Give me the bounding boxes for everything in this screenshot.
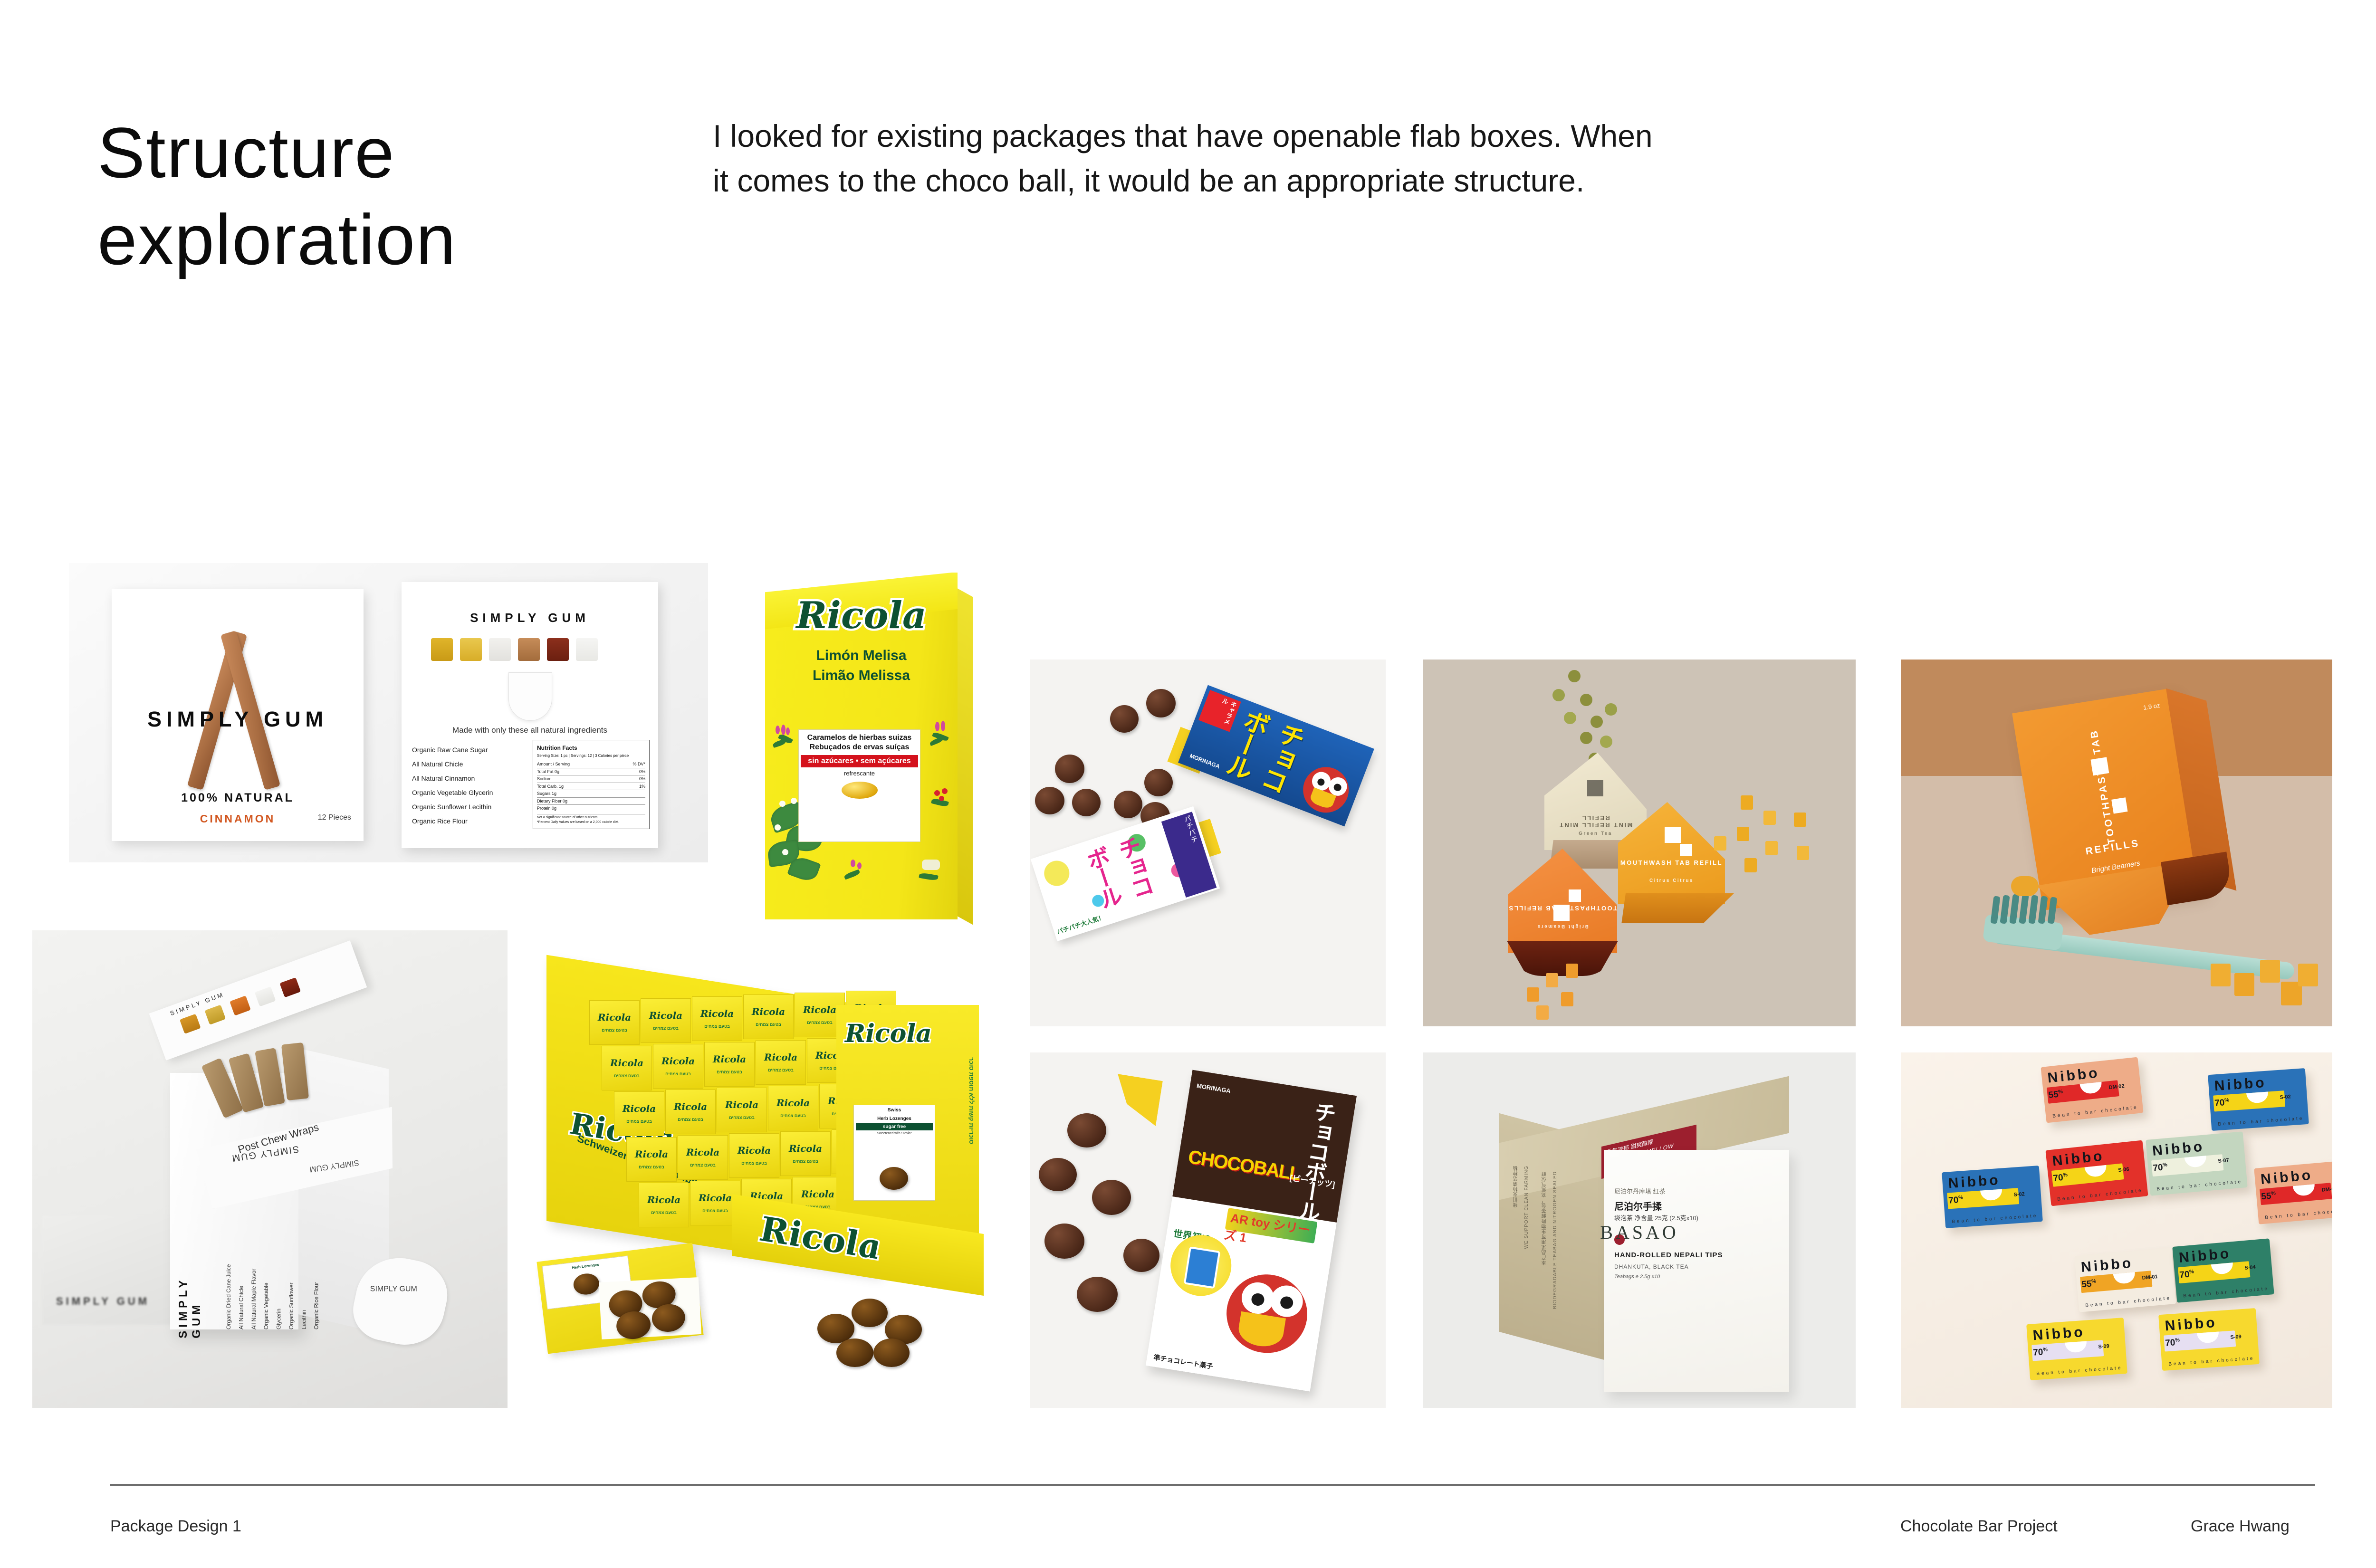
label-stevia: Sweetened with Stevia* (854, 1132, 935, 1135)
nibbo-bar: Nibbo55%DM-02Bean to bar chocolate (2254, 1160, 2332, 1224)
hebrew-side-text: סוכריות קשות ללא תוספת סוכר (968, 1057, 975, 1144)
nibbo-tagline: Bean to bar chocolate (2052, 1105, 2138, 1119)
ricola-logo-small: Ricola (614, 1103, 664, 1114)
nibbo-cacao-pct: 55% (2081, 1278, 2097, 1290)
nibbo-sku: S-02 (2280, 1094, 2291, 1100)
ricola-logo: Ricola (765, 594, 958, 637)
pack-vertical-wordmark: SIMPLY GUM (177, 1277, 203, 1339)
nutrition-row: Total Fat 0g0% (537, 768, 645, 775)
lid-swatch-4 (255, 986, 276, 1006)
nutrition-row: Dietary Fiber 0g (537, 797, 645, 805)
label-sugar-free: sugar free (856, 1123, 933, 1130)
footer-divider (110, 1484, 2315, 1486)
intro-line1: I looked for existing packages that have… (713, 114, 1796, 159)
ricola-logo-small: Ricola (744, 1006, 793, 1017)
choco-ball (1144, 769, 1173, 796)
label-swiss: Swiss (854, 1105, 935, 1114)
en-net-weight: Teabags e 2.5g x10 (1614, 1274, 1660, 1280)
pack-ingredient-list: Organic Dried Cane JuiceAll Natural Chic… (222, 1263, 323, 1329)
ricola-pack: Ricolaבטעם צמחים (589, 1000, 640, 1045)
nibbo-tagline: Bean to bar chocolate (2156, 1179, 2243, 1192)
intro-paragraph: I looked for existing packages that have… (713, 114, 1796, 203)
nibbo-tagline: Bean to bar chocolate (2183, 1286, 2270, 1299)
wrapper-text: SIMPLY GUM (309, 1157, 360, 1174)
photo-ricola-display-case: Ricola Schweizer Kräuterbonbons Ricolaבט… (532, 948, 1000, 1376)
nibbo-sku: S-06 (2118, 1166, 2129, 1173)
nutrition-rows: Total Fat 0g0%Sodium0%Total Carb. 1g1% S… (537, 768, 645, 812)
side-text-cn-1: 我们支持清洁种植 (1513, 1166, 1520, 1207)
ricola-pack: Ricolaבטעם צמחים (614, 1091, 664, 1136)
nibbo-bar: Nibbo70%S-06Bean to bar chocolate (2045, 1140, 2148, 1206)
nf-header-left: Amount / Serving (537, 761, 570, 768)
ricola-logo-small: Ricola (627, 1148, 676, 1160)
nibbo-sku: S-09 (2098, 1343, 2109, 1350)
ingredient-item: Organic Dried Cane Juice (222, 1263, 235, 1329)
herb-illustration (841, 858, 869, 885)
nibbo-brand: Nibbo (2165, 1315, 2218, 1335)
wedge-label-mint: MINT REFILL MINT REFILL (1544, 814, 1647, 829)
openable-flap-tab (508, 672, 552, 721)
hebrew-flavor: בטעם צמחים (717, 1115, 766, 1120)
ricola-pack: Ricolaבטעם צמחים (729, 1133, 779, 1178)
herb-illustration (917, 858, 945, 885)
hebrew-flavor: בטעם צמחים (729, 1161, 779, 1166)
nf-header-right: % DV* (632, 761, 645, 768)
hebrew-flavor: בטעם צמחים (653, 1071, 703, 1076)
en-subtitle: DHANKUTA, BLACK TEA (1614, 1263, 1689, 1270)
ricola-logo-small: Ricola (756, 1052, 805, 1063)
ingredient-item: All Natural Cinnamon (412, 771, 493, 785)
nutrition-title: Nutrition Facts (537, 745, 577, 751)
nibbo-brand: Nibbo (2214, 1075, 2267, 1095)
made-with-caption: Made with only these all natural ingredi… (402, 726, 658, 735)
ricola-pack: Ricolaבטעם צמחים (626, 1137, 677, 1182)
hebrew-flavor: בטעם צמחים (602, 1073, 651, 1078)
ricola-logo-small: Ricola (692, 1008, 742, 1019)
ricola-logo-small: Ricola (641, 1010, 690, 1021)
ricola-pack: Ricolaבטעם צמחים (665, 1090, 716, 1134)
ingredient-item: All Natural Chicle (412, 757, 493, 771)
morinaga-logo: MORINAGA (1189, 752, 1221, 770)
herb-illustration (770, 725, 797, 752)
ingredient-item: Organic Sunflower Lecithin (412, 800, 493, 814)
hebrew-flavor: בטעם צמחים (705, 1070, 754, 1074)
nibbo-brand: Nibbo (1948, 1172, 2001, 1192)
choco-ball (1055, 755, 1084, 783)
sugar-free-badge: sin azúcares • sem açúcares (801, 755, 918, 767)
swatch-cinnamon (518, 638, 540, 661)
en-title: HAND-ROLLED NEPALI TIPS (1614, 1251, 1723, 1259)
ricola-pack: Ricolaבטעם צמחים (780, 1131, 831, 1176)
ricola-flavor-pt: Limão Melissa (765, 668, 958, 684)
ricola-pack: Ricolaבטעם צמחים (639, 1183, 689, 1227)
nibbo-sku: S-04 (2244, 1264, 2256, 1271)
simply-gum-back-pack: SIMPLY GUM Made with only these all natu… (402, 582, 658, 848)
side-text-cn-2: 本产品采用可生物降解茶包，充氮气保鲜 (1541, 1171, 1548, 1265)
hebrew-flavor: בטעם צמחים (692, 1024, 742, 1029)
ricola-logo-small: Ricola (768, 1097, 818, 1109)
hebrew-flavor: בטעם צמחים (678, 1163, 728, 1167)
footer-right: Grace Hwang (2191, 1517, 2290, 1536)
swatch-glycerin (489, 638, 511, 661)
ricola-pack: Ricolaבטעם צמחים (602, 1046, 652, 1090)
background-wordmark: SIMPLY GUM (56, 1295, 150, 1308)
photo-bite-refill-wedges: MINT REFILL MINT REFILL Green Tea MOUTHW… (1423, 660, 1856, 1026)
wedge-mouthwash-depth (1609, 893, 1734, 923)
ingredient-item: Organic Rice Flour (412, 814, 493, 828)
ricola-logo-small: Ricola (639, 1194, 689, 1205)
ricola-logo-small: Ricola (781, 1143, 830, 1154)
ricola-product-label: Swiss Herb Lozenges sugar free Sweetened… (853, 1105, 935, 1201)
toothpaste-tab-refill-box: TOOTHPASTE TAB REFILLS Bright Beamers 1.… (2012, 689, 2198, 910)
ricola-info-panel: Caramelos de hierbas suizas Rebuçados de… (798, 729, 920, 842)
hebrew-flavor: בטעם צמחים (666, 1117, 715, 1122)
ricola-logo-small: Ricola (590, 1012, 639, 1023)
ricola-logo-front: Ricola (845, 1019, 932, 1048)
label-lozenges-small: Herb Lozenges (543, 1256, 628, 1273)
nibbo-bar: Nibbo70%S-09Bean to bar chocolate (2026, 1318, 2127, 1380)
ingredient-item: All Natural Maple Flavor (248, 1263, 260, 1329)
nibbo-bar: Nibbo55%DM-02Bean to bar chocolate (2041, 1057, 2143, 1123)
nf-footnote-2: *Percent Daily Values are based on a 2,0… (537, 820, 645, 825)
cn-title: 尼泊尔手揉 (1614, 1199, 1662, 1213)
ricola-pack: Ricolaבטעם צמחים (641, 998, 691, 1043)
hebrew-flavor: בטעם צמחים (781, 1159, 830, 1164)
nibbo-bar: Nibbo70%S-07Bean to bar chocolate (2146, 1131, 2248, 1195)
nibbo-brand: Nibbo (2032, 1324, 2086, 1344)
nibbo-sku: S-02 (2013, 1191, 2025, 1198)
herb-illustration (928, 721, 955, 748)
ricola-pack: Ricolaבטעם צמחים (704, 1042, 755, 1087)
open-flap-yellow (1111, 1074, 1163, 1126)
nutrition-row: Total Carb. 1g1% (537, 783, 645, 790)
ingredient-item: Organic Raw Cane Sugar (412, 743, 493, 757)
hebrew-flavor: בטעם צמחים (639, 1210, 689, 1215)
nibbo-cacao-pct: 55% (2261, 1190, 2277, 1202)
hebrew-flavor: בטעם צמחים (627, 1165, 676, 1169)
nutrition-row: Protein 0g (537, 804, 645, 812)
nibbo-cacao-pct: 70% (2165, 1337, 2180, 1348)
hebrew-flavor: בטעם צמחים (744, 1022, 793, 1027)
nibbo-bar: Nibbo55%DM-01Bean to bar chocolate (2074, 1248, 2176, 1312)
chocoball-blue-box: キャラメル チョコボール MORINAGA (1178, 685, 1374, 827)
piece-count: 12 Pieces (318, 813, 351, 822)
nutrition-facts-panel: Nutrition Facts Serving Size: 1 pc | Ser… (533, 740, 650, 829)
ricola-pack: Ricolaבטעם צמחים (743, 994, 794, 1039)
nibbo-cacao-pct: 70% (2153, 1162, 2168, 1174)
footer-center: Chocolate Bar Project (1900, 1517, 2058, 1536)
nibbo-cacao-pct: 70% (2214, 1097, 2230, 1109)
chocoball-white-box: チョコボール パチパチ パチパチ大人気！ (1031, 806, 1220, 941)
lid-swatch-1 (180, 1014, 201, 1034)
nibbo-sku: DM-01 (2142, 1274, 2158, 1281)
swatch-sugar (431, 638, 453, 661)
ricola-pack: Ricolaבטעם צמחים (678, 1135, 728, 1180)
hebrew-flavor: בטעם צמחים (590, 1028, 639, 1033)
lozenge-illustration (842, 782, 878, 799)
photo-basao-tea-box: 香气浓郁 甜爽醇厚 SWEET AND MELLOW 我们支持清洁种植 WE S… (1423, 1052, 1856, 1408)
nf-footnote-1: Not a significant source of other nutrie… (537, 814, 645, 821)
simply-gum-wordmark-back: SIMPLY GUM (402, 611, 658, 625)
footer-left: Package Design 1 (110, 1517, 241, 1536)
wedge-label-mouthwash: MOUTHWASH TAB REFILL (1618, 859, 1725, 866)
photo-ricola-single-box: Ricola Limón Melisa Limão Melissa (751, 573, 988, 943)
intro-line2: it comes to the choco ball, it would be … (713, 159, 1796, 203)
herb-illustration (928, 787, 955, 815)
ingredient-item: Organic Sunflower Lecithin (285, 1263, 310, 1329)
net-weight: 1.9 oz (2143, 702, 2160, 711)
swatch-rice-flour (576, 638, 598, 661)
photo-simply-gum-open-box: SIMPLY GUM SIMPLY GUM Organic Dried Cane… (32, 930, 508, 1408)
nibbo-tagline: Bean to bar chocolate (2168, 1356, 2255, 1367)
ricola-pack: Ricolaבטעם צמחים (653, 1044, 703, 1089)
swatch-lecithin (547, 638, 569, 661)
photo-chocoball-two-boxes: キャラメル チョコボール MORINAGA チョコボール パチパチ パチパチ大人… (1030, 660, 1386, 1026)
ricola-logo-small: Ricola (793, 1188, 843, 1200)
nibbo-tagline: Bean to bar chocolate (2036, 1365, 2123, 1377)
hebrew-flavor: בטעם צמחים (768, 1113, 818, 1118)
ingredient-list: Organic Raw Cane SugarAll Natural Chicle… (412, 743, 493, 829)
lid-swatch-5 (279, 977, 301, 997)
choco-ball (1035, 787, 1064, 814)
wedge-sub-toothpaste: Bright Beamers (1508, 924, 1617, 929)
nibbo-sku: DM-02 (2108, 1083, 2125, 1090)
swatch-chicle (460, 638, 482, 661)
hebrew-flavor: בטעם צמחים (756, 1068, 805, 1072)
hebrew-flavor: בטעם צמחים (614, 1119, 664, 1124)
ricola-logo-small: Ricola (729, 1145, 779, 1156)
page-title-line1: Structure (97, 109, 668, 196)
ricola-logo-small: Ricola (678, 1147, 728, 1158)
ricola-desc-pt: Rebuçados de ervas suíças (801, 743, 918, 752)
nibbo-bar: Nibbo70%S-09Bean to bar chocolate (2158, 1308, 2260, 1371)
nibbo-sku: S-07 (2218, 1157, 2229, 1164)
ricola-pack: Ricolaבטעם צמחים (756, 1040, 806, 1085)
ingredient-item: Organic Vegetable Glycerin (412, 785, 493, 800)
serving-info: Serving Size: 1 pc | Servings: 12 | 3 Ca… (537, 753, 645, 759)
cn-subtitle: 尼泊尔丹库塔 红茶 (1614, 1186, 1666, 1195)
ricola-pack: Ricolaבטעם צמחים (768, 1086, 818, 1130)
choco-ball (1072, 789, 1101, 816)
photo-chocoball-single: チョコボール MORINAGA CHOCOBALL [ピーナッツ] AR toy… (1030, 1052, 1386, 1408)
basao-logo: BASAO (1423, 1221, 1856, 1243)
ricola-logo-small: Ricola (653, 1055, 703, 1067)
nibbo-cacao-pct: 70% (1948, 1195, 1964, 1206)
nutrition-row: Sodium0% (537, 775, 645, 783)
choco-ball (1146, 689, 1176, 717)
ricola-open-pack: Herb Lozenges (537, 1243, 703, 1354)
ricola-desc-es: Caramelos de hierbas suizas (801, 733, 918, 743)
ricola-logo-small: Ricola (705, 1053, 754, 1065)
lid-swatch-3 (230, 995, 251, 1015)
nibbo-tagline: Bean to bar chocolate (2085, 1296, 2172, 1309)
photo-nibbo-chocolate-bars: Nibbo55%DM-02Bean to bar chocolateNibbo7… (1901, 1052, 2332, 1408)
page-title: Structure exploration (97, 109, 668, 283)
toothpaste-tab-on-brush (2011, 876, 2039, 896)
ingredient-item: Organic Rice Flour (310, 1263, 323, 1329)
ricola-logo-small: Ricola (666, 1101, 715, 1112)
nibbo-bar: Nibbo70%S-04Bean to bar chocolate (2172, 1238, 2274, 1302)
choco-ball (1114, 791, 1142, 818)
lid-swatch-2 (204, 1004, 226, 1024)
photo-simply-gum-front-back: SIMPLY GUM 100% NATURAL CINNAMON 12 Piec… (69, 563, 708, 862)
nibbo-sku: S-09 (2230, 1334, 2242, 1340)
hebrew-flavor: בטעם צמחים (641, 1026, 690, 1031)
simply-gum-front-pack: SIMPLY GUM 100% NATURAL CINNAMON 12 Piec… (112, 589, 364, 841)
ricola-pack: Ricolaבטעם צמחים (717, 1088, 767, 1132)
simply-gum-wordmark: SIMPLY GUM (112, 707, 364, 732)
nibbo-tagline: Bean to bar chocolate (1952, 1213, 2038, 1224)
wedge-sub-mouthwash: Citrus Citrus (1618, 878, 1725, 883)
choco-ball (1110, 705, 1139, 733)
kyoro-chan-mascot-icon (1296, 760, 1355, 819)
ricola-flavor-es: Limón Melisa (765, 648, 958, 664)
label-lozenges: Herb Lozenges (854, 1114, 935, 1122)
nibbo-tagline: Bean to bar chocolate (2218, 1116, 2304, 1127)
ingredient-item: All Natural Chicle (235, 1263, 247, 1329)
nibbo-bar: Nibbo70%S-02Bean to bar chocolate (1942, 1166, 2043, 1228)
refreshing-label: refrescante (799, 770, 920, 777)
ricola-pack: Ricolaבטעם צמחים (692, 996, 742, 1041)
ricola-logo-band: Ricola (760, 1208, 881, 1268)
nibbo-bar: Nibbo70%S-02Bean to bar chocolate (2208, 1068, 2309, 1131)
nibbo-cacao-pct: 70% (2179, 1269, 2195, 1281)
nutrition-row: Sugars 1g (537, 790, 645, 797)
openable-lid-flap: SIMPLY GUM (149, 940, 367, 1061)
wrapper-text: SIMPLY GUM (370, 1285, 417, 1293)
nibbo-cacao-pct: 70% (2033, 1347, 2048, 1358)
nibbo-tagline: Bean to bar chocolate (2057, 1188, 2143, 1202)
page-title-line2: exploration (97, 196, 668, 283)
ricola-logo-small: Ricola (602, 1057, 651, 1069)
nibbo-cacao-pct: 55% (2048, 1089, 2064, 1100)
nibbo-tagline: Bean to bar chocolate (2265, 1208, 2332, 1221)
wedge-open-cavity (1507, 941, 1618, 976)
ricola-logo-small: Ricola (717, 1099, 766, 1110)
photo-toothpaste-tab-refills: TOOTHPASTE TAB REFILLS Bright Beamers 1.… (1901, 660, 2332, 1026)
chocoball-peanut-box: チョコボール MORINAGA CHOCOBALL [ピーナッツ] AR toy… (1146, 1070, 1357, 1392)
nibbo-cacao-pct: 70% (2053, 1172, 2069, 1184)
nibbo-sku: DM-02 (2321, 1186, 2332, 1193)
natural-claim: 100% NATURAL (112, 791, 364, 805)
ingredient-swatch-row (431, 638, 598, 661)
ingredient-item: Organic Vegetable Glycerin (260, 1263, 285, 1329)
